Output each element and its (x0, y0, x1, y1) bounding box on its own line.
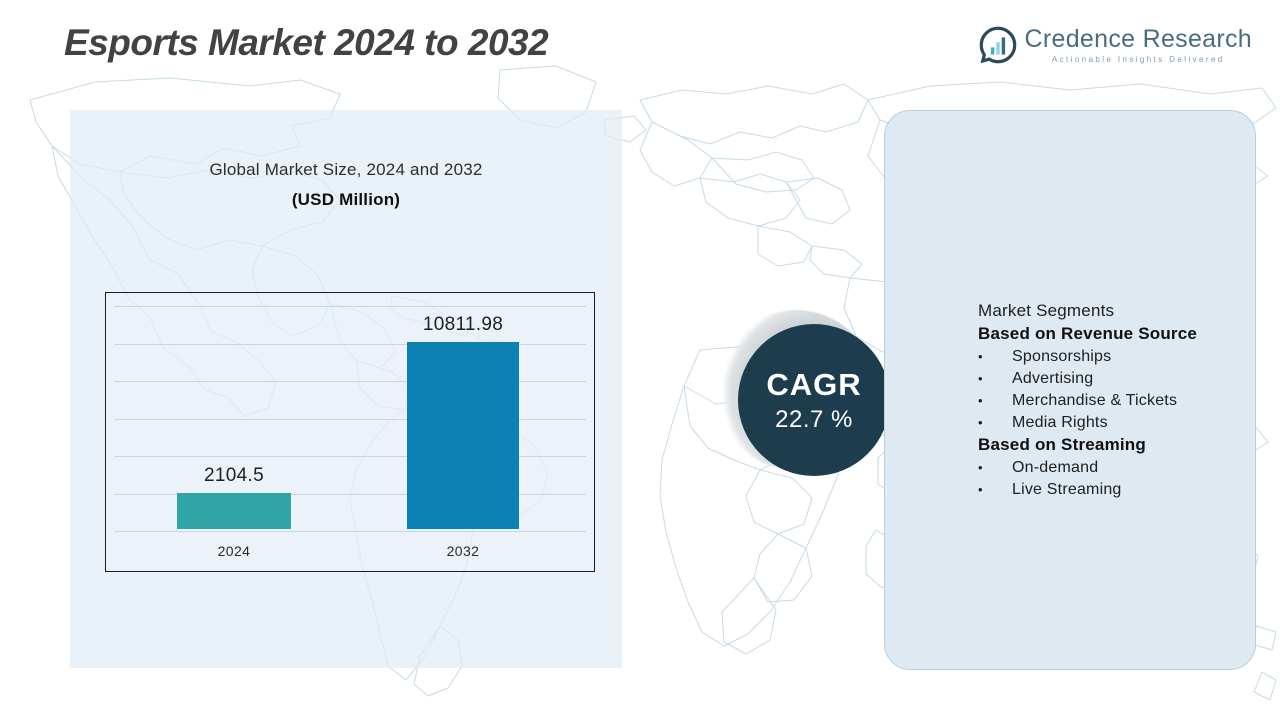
chart-gridline (114, 306, 586, 307)
segments-title: Market Segments (978, 300, 1268, 323)
segment-item-label: Sponsorships (1012, 346, 1111, 368)
infographic-canvas: Esports Market 2024 to 2032 Credence Res… (0, 0, 1280, 720)
chart-category-label: 2024 (154, 543, 314, 559)
segment-list-item: •Media Rights (978, 412, 1268, 434)
segment-item-label: On-demand (1012, 457, 1098, 479)
page-title: Esports Market 2024 to 2032 (64, 22, 548, 64)
segment-list-item: •Advertising (978, 368, 1268, 390)
segment-list-item: •Merchandise & Tickets (978, 390, 1268, 412)
segment-item-label: Media Rights (1012, 412, 1108, 434)
segment-list-item: •On-demand (978, 457, 1268, 479)
chart-plot-area: 2104.5202410811.982032 (106, 293, 594, 571)
chart-caption-units: (USD Million) (70, 190, 622, 210)
bullet-icon: • (978, 481, 1012, 499)
brand-tagline: Actionable Insights Delivered (1025, 56, 1252, 64)
segment-item-label: Advertising (1012, 368, 1093, 390)
bullet-icon: • (978, 370, 1012, 388)
segment-item-label: Merchandise & Tickets (1012, 390, 1177, 412)
bullet-icon: • (978, 459, 1012, 477)
bullet-icon: • (978, 348, 1012, 366)
bar-chart-bubble-icon (979, 26, 1017, 64)
chart-bar (407, 342, 519, 529)
chart-category-label: 2032 (383, 543, 543, 559)
bullet-icon: • (978, 414, 1012, 432)
brand-name: Credence Research (1025, 27, 1252, 52)
brand-logo: Credence Research Actionable Insights De… (979, 26, 1252, 64)
bullet-icon: • (978, 392, 1012, 410)
cagr-badge: CAGR 22.7 % (716, 310, 892, 486)
chart-caption-primary: Global Market Size, 2024 and 2032 (70, 160, 622, 180)
cagr-circle: CAGR 22.7 % (738, 324, 890, 476)
segment-group-heading: Based on Revenue Source (978, 323, 1268, 346)
chart-bar-value-label: 2104.5 (154, 465, 314, 487)
segment-list-item: •Sponsorships (978, 346, 1268, 368)
chart-bar (177, 493, 291, 529)
cagr-value: 22.7 % (775, 408, 853, 432)
segment-group-heading: Based on Streaming (978, 434, 1268, 457)
cagr-label: CAGR (766, 369, 861, 400)
segments-content: Market Segments Based on Revenue Source•… (978, 300, 1268, 501)
segment-item-label: Live Streaming (1012, 479, 1122, 501)
chart-bar-value-label: 10811.98 (383, 314, 543, 336)
segment-list-item: •Live Streaming (978, 479, 1268, 501)
bar-chart: 2104.5202410811.982032 (105, 292, 595, 572)
chart-gridline (114, 531, 586, 532)
